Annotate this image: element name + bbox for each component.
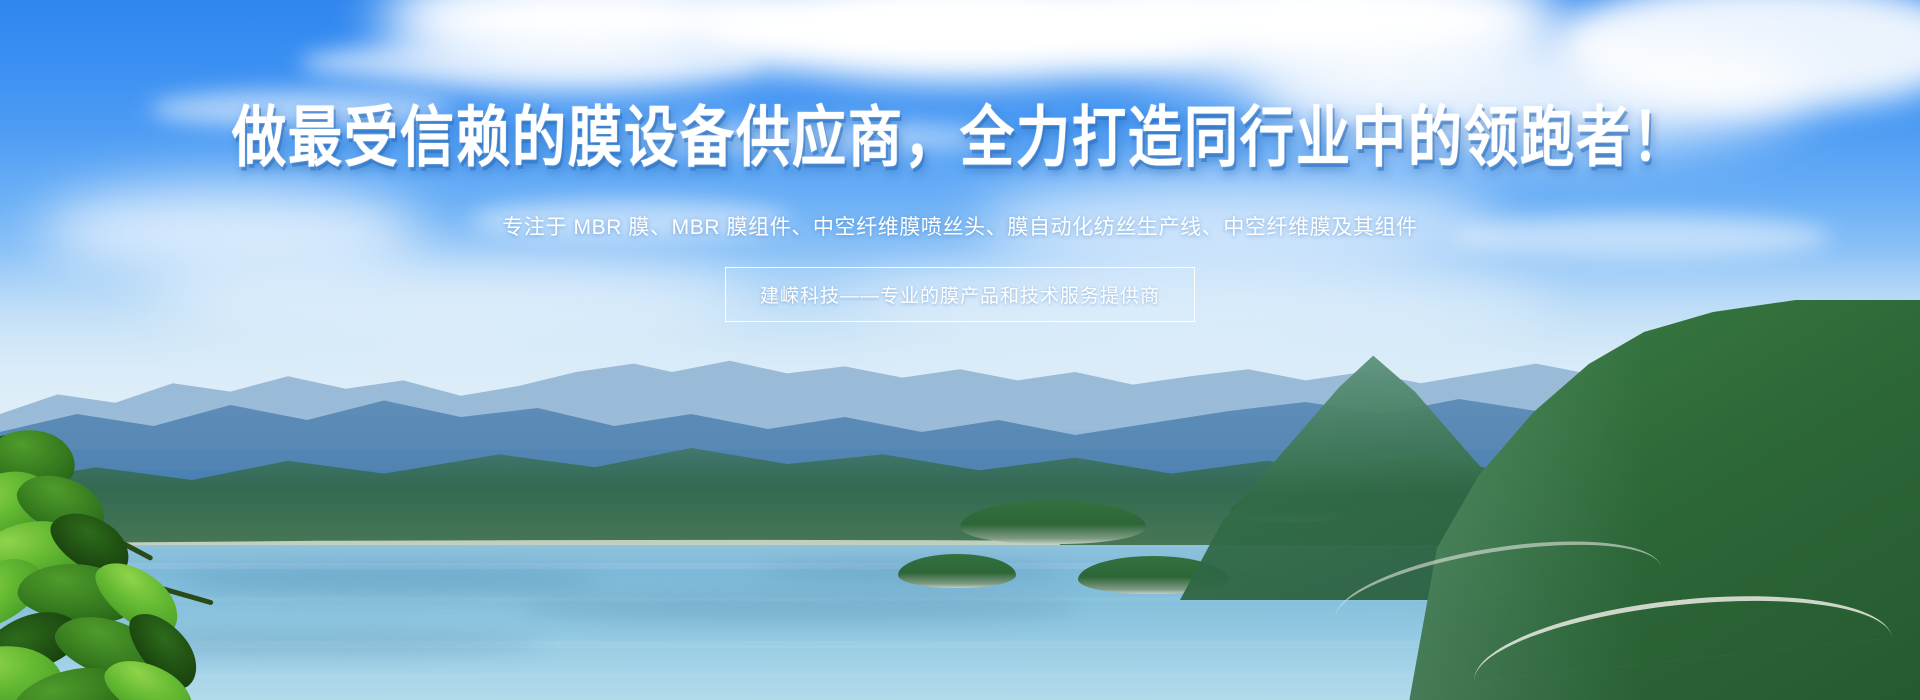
banner-tagline-box: 建嵘科技——专业的膜产品和技术服务提供商 (725, 267, 1195, 322)
banner-subheadline: 专注于 MBR 膜、MBR 膜组件、中空纤维膜喷丝头、膜自动化纺丝生产线、中空纤… (502, 211, 1417, 241)
banner-headline: 做最受信赖的膜设备供应商，全力打造同行业中的领跑者！ (232, 104, 1688, 173)
hero-banner: 做最受信赖的膜设备供应商，全力打造同行业中的领跑者！ 专注于 MBR 膜、MBR… (0, 0, 1920, 700)
banner-copy: 做最受信赖的膜设备供应商，全力打造同行业中的领跑者！ 专注于 MBR 膜、MBR… (0, 0, 1920, 700)
